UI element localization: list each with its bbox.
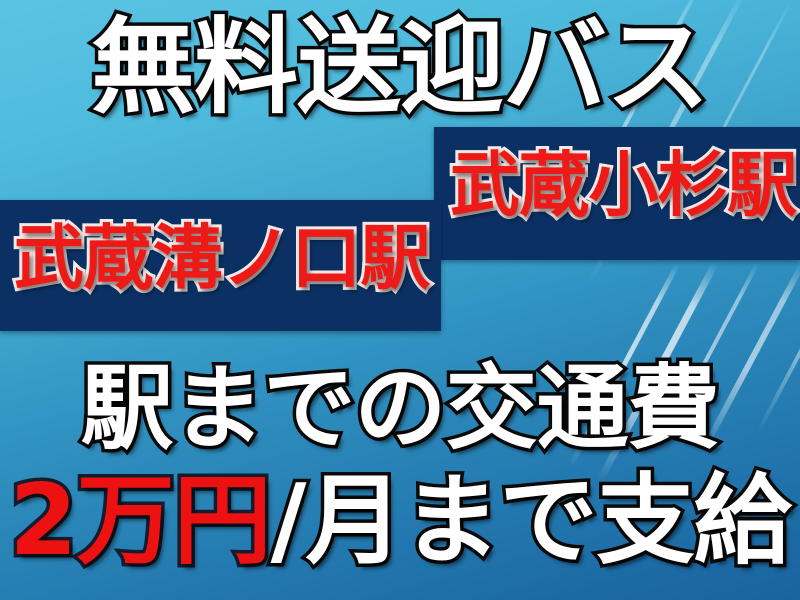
benefit-amount-suffix: /月まで支給 bbox=[271, 464, 791, 578]
benefit-amount-value: 2万円 bbox=[9, 464, 270, 578]
station-label-kosugi: 武蔵小杉駅 bbox=[450, 147, 797, 224]
station-label-mizonokuchi: 武蔵溝ノ口駅 bbox=[14, 220, 430, 297]
shuttle-bus-poster: 無料送迎バス 武蔵小杉駅 武蔵溝ノ口駅 駅までの交通費 2万円/月まで支給 bbox=[0, 0, 800, 600]
benefit-line-amount: 2万円/月まで支給 bbox=[0, 468, 800, 576]
headline-free-shuttle-bus: 無料送迎バス bbox=[0, 10, 800, 124]
benefit-line-commute-fare: 駅までの交通費 bbox=[0, 358, 800, 459]
